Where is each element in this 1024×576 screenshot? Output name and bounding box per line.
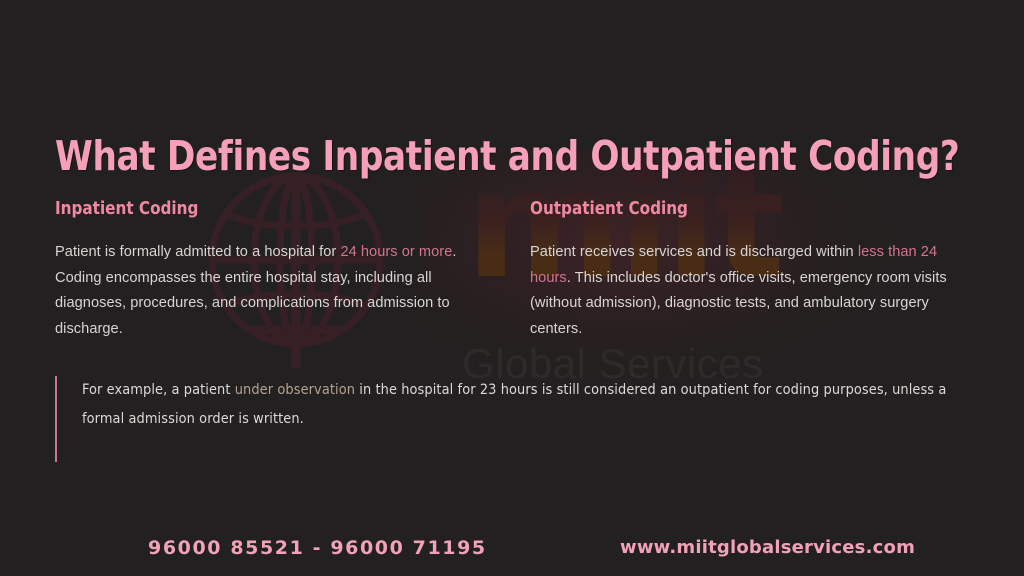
slide-canvas: miit Global Services What Defines Inpati… [0,0,1024,576]
column-outpatient: Outpatient Coding Patient receives servi… [530,198,978,342]
callout-example: For example, a patient under observation… [55,376,980,462]
column-inpatient: Inpatient Coding Patient is formally adm… [55,198,497,342]
column-heading-inpatient: Inpatient Coding [55,198,470,219]
body-text-highlight: 24 hours or more [340,244,452,260]
column-body-outpatient: Patient receives services and is dischar… [530,240,978,342]
callout-text: For example, a patient under observation… [82,376,980,434]
callout-emphasis: under observation [235,382,355,398]
body-text-plain: Patient receives services and is dischar… [530,244,858,260]
page-title: What Defines Inpatient and Outpatient Co… [55,132,959,180]
column-body-inpatient: Patient is formally admitted to a hospit… [55,240,497,342]
body-text-plain: Patient is formally admitted to a hospit… [55,244,340,260]
column-heading-outpatient: Outpatient Coding [530,198,951,219]
body-text-plain: . This includes doctor's office visits, … [530,270,947,337]
footer-website[interactable]: www.miitglobalservices.com [620,537,915,558]
callout-lead: For example, a patient [82,382,235,398]
footer-phone: 96000 85521 - 96000 71195 [148,537,487,559]
